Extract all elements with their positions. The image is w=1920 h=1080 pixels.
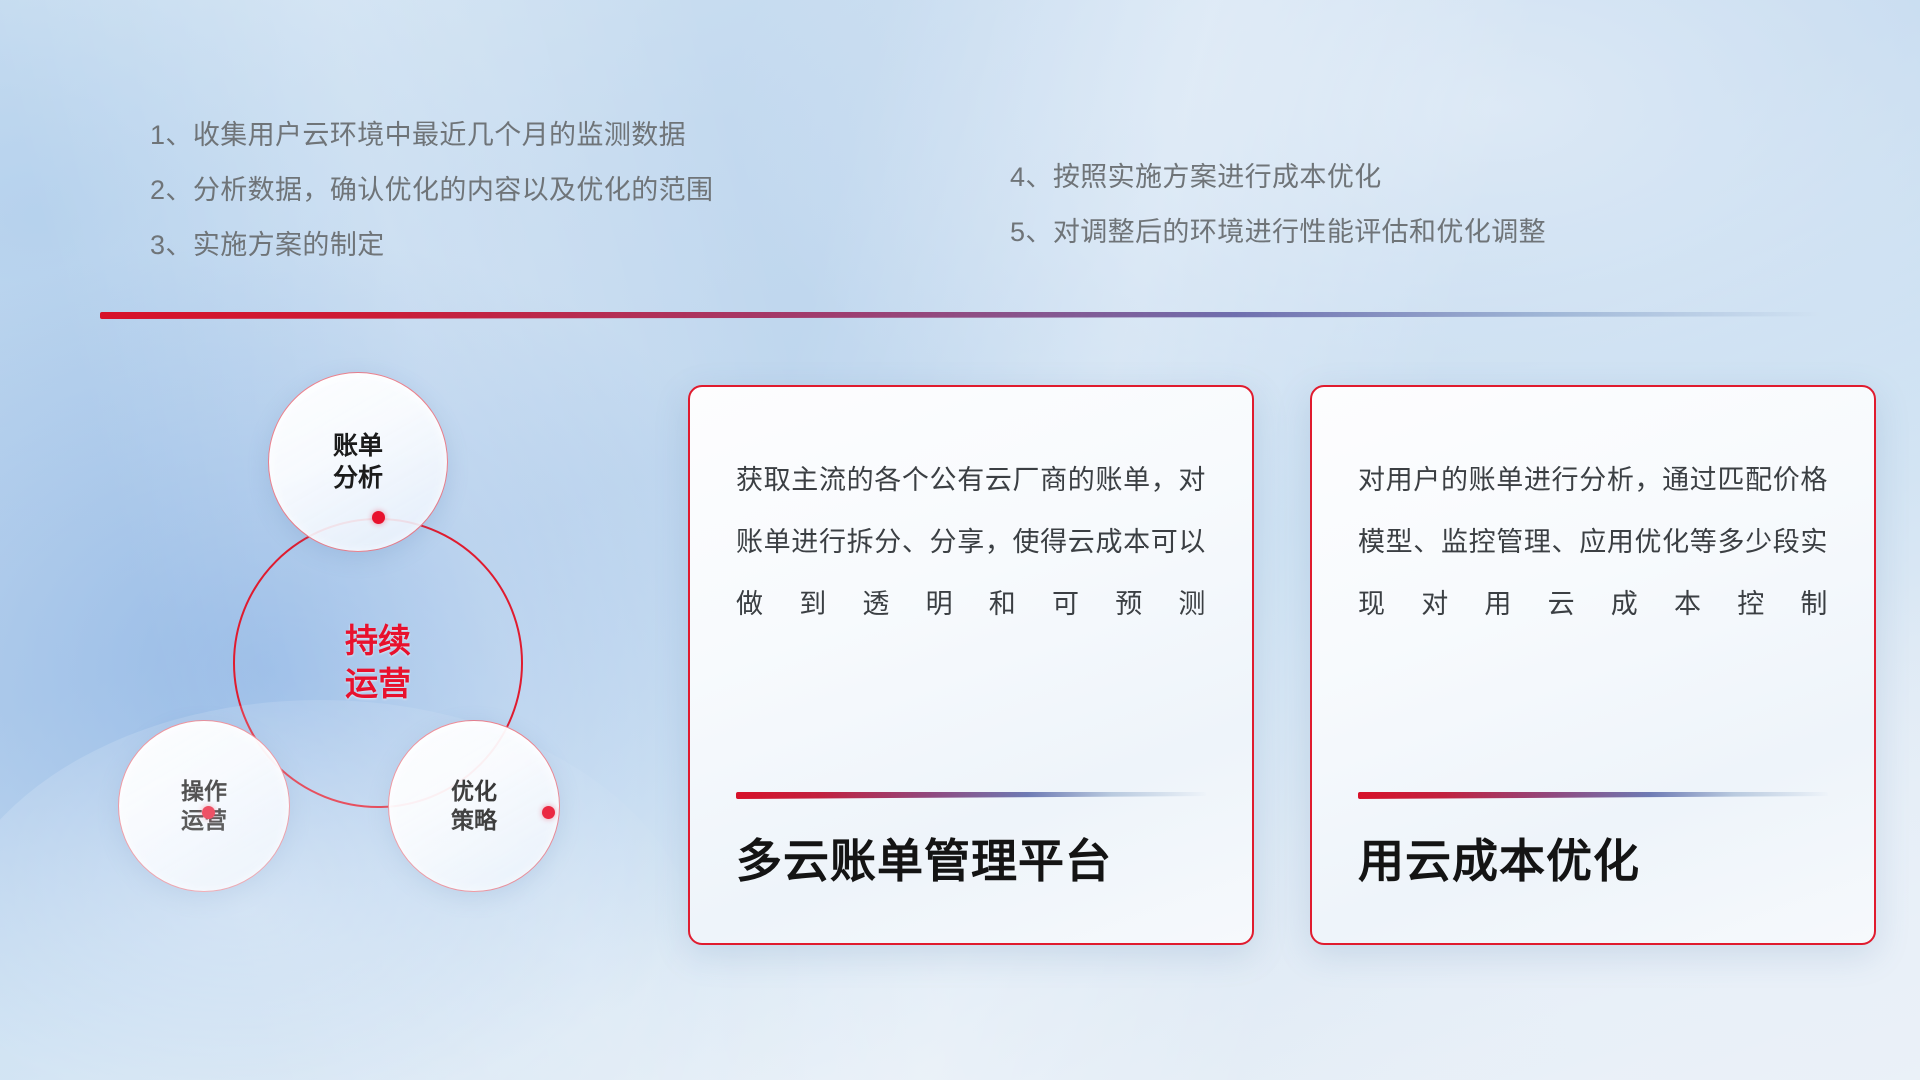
- node-label-line2: 策略: [451, 806, 497, 835]
- node-label-line1: 账单: [333, 430, 383, 462]
- connector-dot-top-icon: [372, 511, 385, 524]
- node-label-line1: 优化: [451, 777, 497, 806]
- connector-dot-left-icon: [202, 806, 215, 819]
- card-title: 用云成本优化: [1358, 825, 1828, 891]
- diagram-node-bill-analysis[interactable]: 账单 分析: [268, 372, 448, 552]
- card-title: 多云账单管理平台: [736, 825, 1206, 891]
- step-item-3: 3、实施方案的制定: [150, 218, 1010, 273]
- center-label-line2: 运营: [345, 663, 411, 706]
- center-label-line1: 持续: [345, 620, 411, 663]
- steps-column-left: 1、收集用户云环境中最近几个月的监测数据 2、分析数据，确认优化的内容以及优化的…: [150, 108, 1010, 273]
- step-item-4: 4、按照实施方案进行成本优化: [1010, 150, 1770, 205]
- feature-cards: 获取主流的各个公有云厂商的账单，对账单进行拆分、分享，使得云成本可以做到透明和可…: [688, 385, 1876, 945]
- node-label-line2: 分析: [333, 462, 383, 494]
- card-body-text: 对用户的账单进行分析，通过匹配价格模型、监控管理、应用优化等多少段实现对用云成本…: [1358, 449, 1828, 635]
- card-multi-cloud-billing-platform[interactable]: 获取主流的各个公有云厂商的账单，对账单进行拆分、分享，使得云成本可以做到透明和可…: [688, 385, 1254, 945]
- card-body-text: 获取主流的各个公有云厂商的账单，对账单进行拆分、分享，使得云成本可以做到透明和可…: [736, 449, 1206, 635]
- step-item-1: 1、收集用户云环境中最近几个月的监测数据: [150, 108, 1010, 163]
- steps-block: 1、收集用户云环境中最近几个月的监测数据 2、分析数据，确认优化的内容以及优化的…: [150, 108, 1790, 273]
- step-item-2: 2、分析数据，确认优化的内容以及优化的范围: [150, 163, 1010, 218]
- card-divider-rule: [1358, 792, 1828, 799]
- connector-dot-right-icon: [542, 806, 555, 819]
- steps-column-right: 4、按照实施方案进行成本优化 5、对调整后的环境进行性能评估和优化调整: [1010, 108, 1770, 273]
- card-divider-rule: [736, 792, 1206, 799]
- diagram-node-optimization-strategy[interactable]: 优化 策略: [388, 720, 560, 892]
- continuous-operation-diagram: 持续 运营 账单 分析 操作 运营 优化 策略: [100, 350, 640, 950]
- step-item-5: 5、对调整后的环境进行性能评估和优化调整: [1010, 205, 1770, 260]
- card-cloud-cost-optimization[interactable]: 对用户的账单进行分析，通过匹配价格模型、监控管理、应用优化等多少段实现对用云成本…: [1310, 385, 1876, 945]
- section-divider-rule: [100, 312, 1820, 319]
- slide-canvas: 1、收集用户云环境中最近几个月的监测数据 2、分析数据，确认优化的内容以及优化的…: [0, 0, 1920, 1080]
- diagram-node-operation[interactable]: 操作 运营: [118, 720, 290, 892]
- node-label-line1: 操作: [181, 777, 227, 806]
